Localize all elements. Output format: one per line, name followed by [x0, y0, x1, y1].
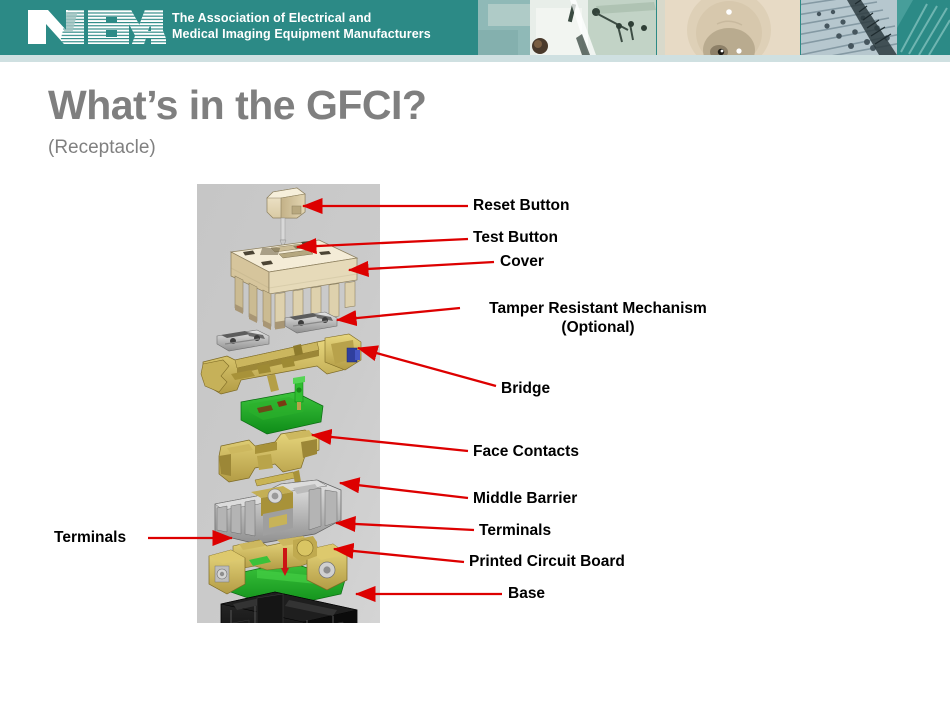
gfci-exploded-diagram — [197, 184, 380, 623]
callout-tamper-line2: (Optional) — [468, 318, 728, 337]
callout-face-contacts: Face Contacts — [473, 442, 579, 461]
association-tagline-line2: Medical Imaging Equipment Manufacturers — [172, 26, 462, 42]
callout-terminals-left: Terminals — [54, 528, 126, 547]
photo-industrial-building — [801, 0, 950, 55]
nema-logo — [26, 6, 166, 48]
callout-middle-barrier: Middle Barrier — [473, 489, 577, 508]
callout-bridge: Bridge — [501, 379, 550, 398]
callout-test-button: Test Button — [473, 228, 558, 247]
callout-reset-button: Reset Button — [473, 196, 569, 215]
callout-terminals-right: Terminals — [479, 521, 551, 540]
association-tagline-line1: The Association of Electrical and — [172, 10, 462, 26]
association-tagline: The Association of Electrical and Medica… — [172, 10, 462, 42]
slide-header-band: The Association of Electrical and Medica… — [0, 0, 950, 55]
callout-tamper-resistant-mechanism: Tamper Resistant Mechanism (Optional) — [468, 299, 728, 337]
photo-lab-equipment — [478, 0, 656, 55]
header-underline — [0, 55, 950, 62]
callout-tamper-line1: Tamper Resistant Mechanism — [468, 299, 728, 318]
photo-medical-scan-face — [657, 0, 800, 55]
callout-base: Base — [508, 584, 545, 603]
callout-printed-circuit-board: Printed Circuit Board — [469, 552, 625, 571]
callout-cover: Cover — [500, 252, 544, 271]
page-title: What’s in the GFCI? — [48, 80, 648, 130]
page-subtitle: (Receptacle) — [48, 136, 448, 160]
